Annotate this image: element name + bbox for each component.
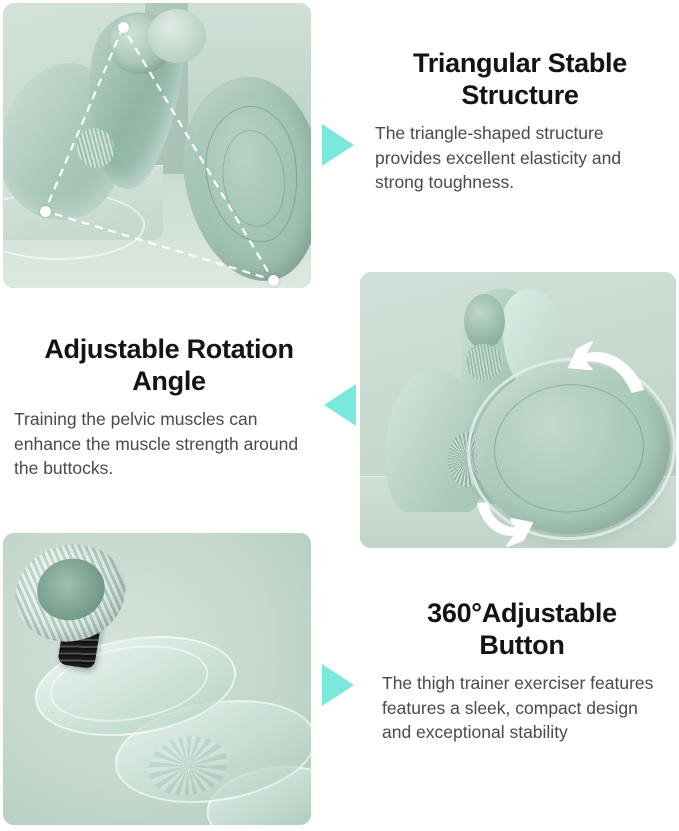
feature-body: Training the pelvic muscles can enhance … bbox=[14, 407, 324, 482]
feature-text-adjustable-rotation-angle: Adjustable Rotation Angle Training the p… bbox=[14, 334, 324, 481]
feature-image-triangular-stable-structure bbox=[3, 3, 311, 288]
pointer-arrow-triangular-stable-structure bbox=[322, 124, 354, 166]
feature-heading: Adjustable Rotation Angle bbox=[14, 334, 324, 398]
feature-heading: 360°Adjustable Button bbox=[382, 598, 662, 662]
triangle-vertex-left bbox=[40, 206, 51, 217]
feature-image-adjustable-rotation-angle bbox=[360, 272, 676, 548]
rotation-arrows bbox=[360, 272, 676, 548]
feature-body: The triangle-shaped structure provides e… bbox=[375, 121, 665, 196]
feature-heading: Triangular Stable Structure bbox=[375, 48, 665, 112]
product-feature-infographic: Triangular Stable Structure The triangle… bbox=[0, 0, 679, 831]
feature-body: The thigh trainer exerciser features fea… bbox=[382, 671, 662, 746]
triangle-vertex-top bbox=[118, 22, 129, 33]
pointer-arrow-adjustable-rotation-angle bbox=[324, 384, 356, 426]
triangle-overlay-dashed bbox=[3, 3, 311, 288]
feature-text-360-adjustable-button: 360°Adjustable Button The thigh trainer … bbox=[382, 598, 662, 745]
triangle-vertex-right bbox=[268, 275, 279, 286]
feature-image-360-adjustable-button bbox=[3, 533, 311, 825]
pointer-arrow-360-adjustable-button bbox=[322, 664, 354, 706]
feature-text-triangular-stable-structure: Triangular Stable Structure The triangle… bbox=[375, 48, 665, 195]
